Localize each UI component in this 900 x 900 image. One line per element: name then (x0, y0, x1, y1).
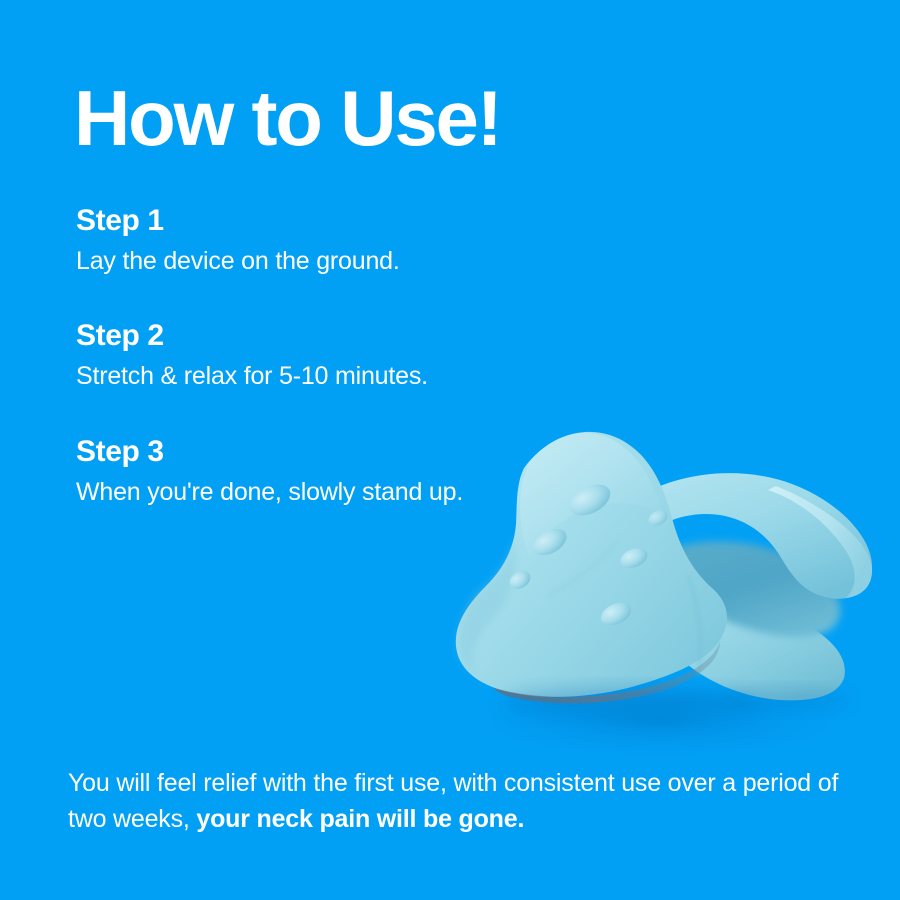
step-1-description: Lay the device on the ground. (76, 245, 506, 278)
product-rear-contact-shadow (728, 689, 852, 711)
page-title: How to Use! (74, 78, 500, 160)
step-item-2: Step 2 Stretch & relax for 5-10 minutes. (76, 318, 506, 393)
product-image (420, 400, 890, 780)
step-1-title: Step 1 (76, 203, 506, 239)
product-contact-shadow (500, 688, 760, 716)
promo-card: How to Use! Step 1 Lay the device on the… (0, 0, 900, 900)
step-2-title: Step 2 (76, 318, 506, 354)
step-2-description: Stretch & relax for 5-10 minutes. (76, 360, 506, 393)
step-item-1: Step 1 Lay the device on the ground. (76, 203, 506, 278)
footer-bold-text: your neck pain will be gone. (196, 805, 524, 833)
